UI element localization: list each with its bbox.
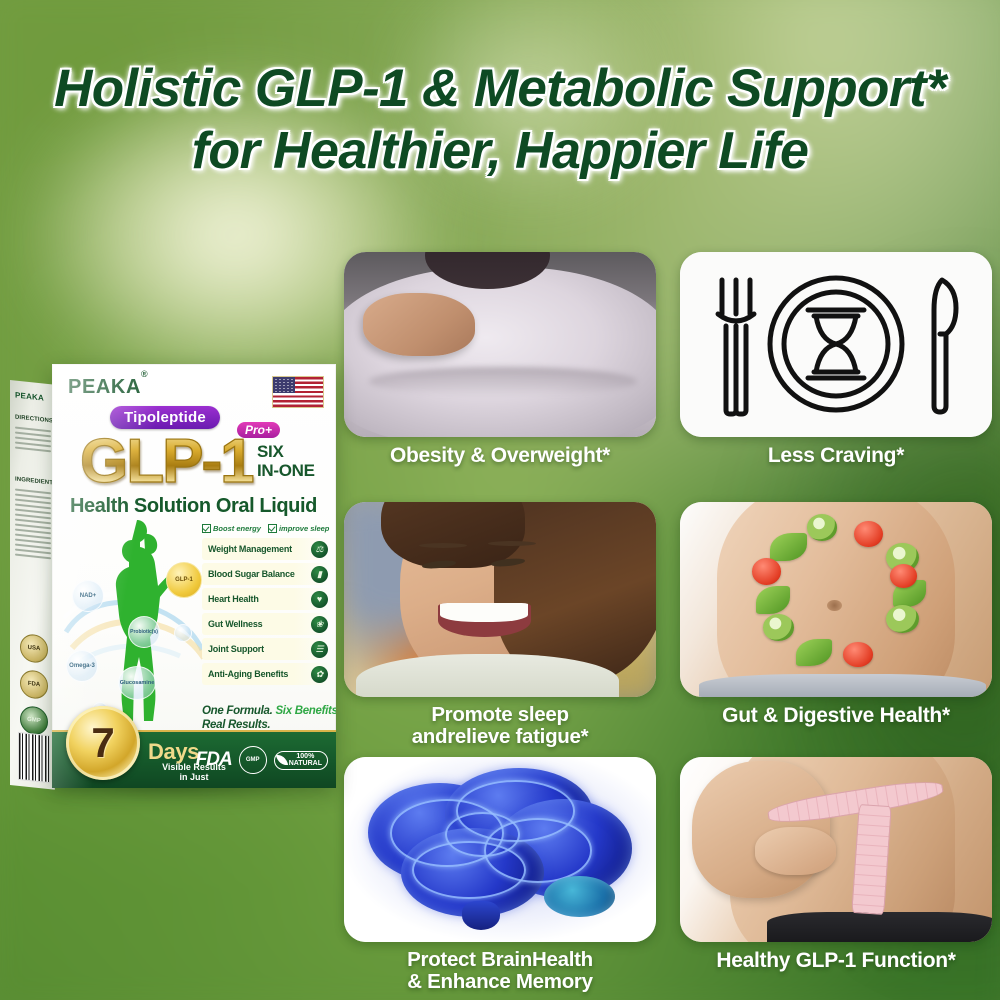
benefit-row: Joint Support ☰: [202, 638, 330, 660]
ingredient-bubble-glp1: GLP-1: [166, 562, 202, 598]
product-name: GLP-1: [80, 426, 253, 497]
benefit-card-grid: Obesity & Overweight*: [344, 252, 996, 996]
benefit-label: Blood Sugar Balance: [208, 569, 295, 579]
side-directions-text: [15, 427, 51, 456]
tagline-part-2: Six Benefits.: [275, 705, 336, 717]
brand-name: PEAKA®: [68, 376, 148, 399]
check-label: improve sleep: [279, 524, 329, 533]
benefit-card-sleep[interactable]: Promote sleep andrelieve fatigue*: [344, 502, 656, 748]
medal-number: 7: [91, 722, 114, 764]
check-improve-sleep: improve sleep: [268, 524, 329, 533]
benefit-row: Gut Wellness ❀: [202, 613, 330, 635]
bubble-label: NAD+: [80, 593, 97, 600]
card-caption: Healthy GLP-1 Function*: [680, 949, 992, 972]
card-caption-line-1: Protect BrainHealth: [407, 948, 593, 971]
benefit-label: Gut Wellness: [208, 619, 262, 629]
card-caption-line-2: andrelieve fatigue*: [412, 725, 589, 748]
package-front-face: PEAKA® Tipoleptide GLP-1 Pro+ SIX IN-ONE…: [52, 364, 336, 788]
card-image: [680, 502, 992, 697]
heart-icon: ♥: [311, 591, 328, 608]
side-ingredients-text: [15, 489, 51, 563]
card-caption-line-2: & Enhance Memory: [407, 970, 592, 993]
gmp-label: GMP: [246, 757, 260, 763]
benefit-row: Heart Health ♥: [202, 588, 330, 610]
marketing-banner: Holistic GLP-1 & Metabolic Support* for …: [0, 0, 1000, 1000]
fork-plate-hourglass-knife-icon: [680, 252, 992, 437]
seven-days-medal: 7: [66, 706, 140, 780]
natural-text: 100% NATURAL: [289, 753, 322, 768]
bubble-label: GLP-1: [175, 577, 193, 584]
benefit-label: Anti-Aging Benefits: [208, 669, 288, 679]
in-one-label: IN-ONE: [257, 461, 315, 480]
fda-mark: FDA: [196, 749, 232, 771]
ingredient-bubble-nad: NAD+: [72, 580, 104, 612]
card-caption: Less Craving*: [680, 444, 992, 467]
side-ingredients-heading: INGREDIENTS: [15, 477, 51, 487]
glucose-drop-icon: ▮: [311, 566, 328, 583]
benefit-label: Weight Management: [208, 544, 292, 554]
card-image: [680, 252, 992, 437]
bone-icon: ☰: [311, 641, 328, 658]
leaf-icon: [276, 753, 288, 767]
seal-usa-label: USA: [21, 634, 47, 663]
ingredient-bubble-glucosamine: Glucosamine: [118, 666, 156, 700]
benefit-card-gut[interactable]: Gut & Digestive Health*: [680, 502, 992, 727]
product-subtitle: Health Solution Oral Liquid: [70, 495, 317, 518]
card-caption: Protect BrainHealth & Enhance Memory: [344, 949, 656, 993]
natural-badge: 100% NATURAL: [274, 751, 328, 770]
card-caption: Promote sleep andrelieve fatigue*: [344, 704, 656, 748]
ingredient-artwork: NAD+ GLP-1 Probiotic(s) Omega-3 Glucosam…: [62, 516, 207, 731]
card-image: [344, 757, 656, 942]
seal-gmp-icon: GMP: [20, 705, 48, 736]
benefit-label: Joint Support: [208, 644, 264, 654]
seal-usa-icon: USA: [20, 633, 48, 664]
side-brand-label: PEAKA: [15, 391, 51, 404]
card-image: [344, 252, 656, 437]
seal-fda-icon: FDA: [20, 669, 48, 700]
obese-belly-photo: [344, 252, 656, 437]
bubble-label: Glucosamine: [120, 680, 155, 687]
tagline-part-1: One Formula.: [202, 705, 273, 717]
certification-marks: FDA GMP 100% NATURAL: [196, 746, 328, 774]
benefit-row: Weight Management ⚖: [202, 538, 330, 560]
cell-renewal-icon: ✿: [311, 666, 328, 683]
check-label: Boost energy: [213, 524, 261, 533]
benefit-card-less-craving[interactable]: Less Craving*: [680, 252, 992, 467]
headline-line-1: Holistic GLP-1 & Metabolic Support*: [0, 58, 1000, 120]
card-caption: Obesity & Overweight*: [344, 444, 656, 467]
benefit-card-obesity[interactable]: Obesity & Overweight*: [344, 252, 656, 467]
us-flag-icon: [272, 376, 324, 408]
card-caption-line-1: Promote sleep: [431, 703, 568, 726]
card-image: [344, 502, 656, 697]
benefit-label: Heart Health: [208, 594, 259, 604]
six-in-one-label: SIX IN-ONE: [257, 442, 333, 480]
seal-fda-label: FDA: [21, 670, 47, 699]
card-image: [680, 757, 992, 942]
benefit-card-glp1-function[interactable]: Healthy GLP-1 Function*: [680, 757, 992, 972]
bubble-label: Probiotic(s): [130, 629, 158, 636]
benefit-row: Anti-Aging Benefits ✿: [202, 663, 330, 685]
registered-mark: ®: [141, 369, 148, 379]
stomach-icon: ❀: [311, 616, 328, 633]
check-boost-energy: Boost energy: [202, 524, 261, 533]
package-side-panel: PEAKA DIRECTIONS INGREDIENTS USA FDA GMP: [10, 380, 55, 790]
waist-measuring-tape-photo: [680, 757, 992, 942]
side-directions-heading: DIRECTIONS: [15, 415, 51, 425]
headline-line-2: for Healthier, Happier Life: [0, 120, 1000, 182]
product-tagline: One Formula. Six Benefits. Real Results.: [202, 704, 336, 732]
pro-badge: Pro+: [237, 422, 280, 438]
check-icon: [202, 524, 211, 533]
product-package: PEAKA DIRECTIONS INGREDIENTS USA FDA GMP…: [4, 358, 344, 798]
six-label: SIX: [257, 442, 284, 461]
check-icon: [268, 524, 277, 533]
card-caption: Gut & Digestive Health*: [680, 704, 992, 727]
vegetable-ring: [749, 518, 930, 674]
gmp-seal-icon: GMP: [239, 746, 267, 774]
bubble-label: Omega-3: [69, 663, 95, 670]
natural-word: NATURAL: [289, 760, 322, 767]
natural-percent: 100%: [296, 753, 314, 760]
benefit-row: Blood Sugar Balance ▮: [202, 563, 330, 585]
barcode-icon: [18, 732, 50, 783]
decorative-bubble: [174, 624, 192, 642]
smiling-woman-photo: [344, 502, 656, 697]
benefit-list: Boost energy improve sleep Weight Manage…: [202, 524, 330, 688]
scale-icon: ⚖: [311, 541, 328, 558]
benefit-checks: Boost energy improve sleep: [202, 524, 330, 533]
benefit-card-brain[interactable]: Protect BrainHealth & Enhance Memory: [344, 757, 656, 993]
brand-text: PEAKA: [68, 376, 141, 398]
headline: Holistic GLP-1 & Metabolic Support* for …: [0, 58, 1000, 182]
seal-gmp-label: GMP: [21, 706, 47, 735]
blue-brain-photo: [344, 757, 656, 942]
ingredient-bubble-probiotic: Probiotic(s): [128, 616, 160, 648]
veggie-circle-midriff-photo: [680, 502, 992, 697]
ingredient-bubble-omega3: Omega-3: [66, 650, 98, 682]
